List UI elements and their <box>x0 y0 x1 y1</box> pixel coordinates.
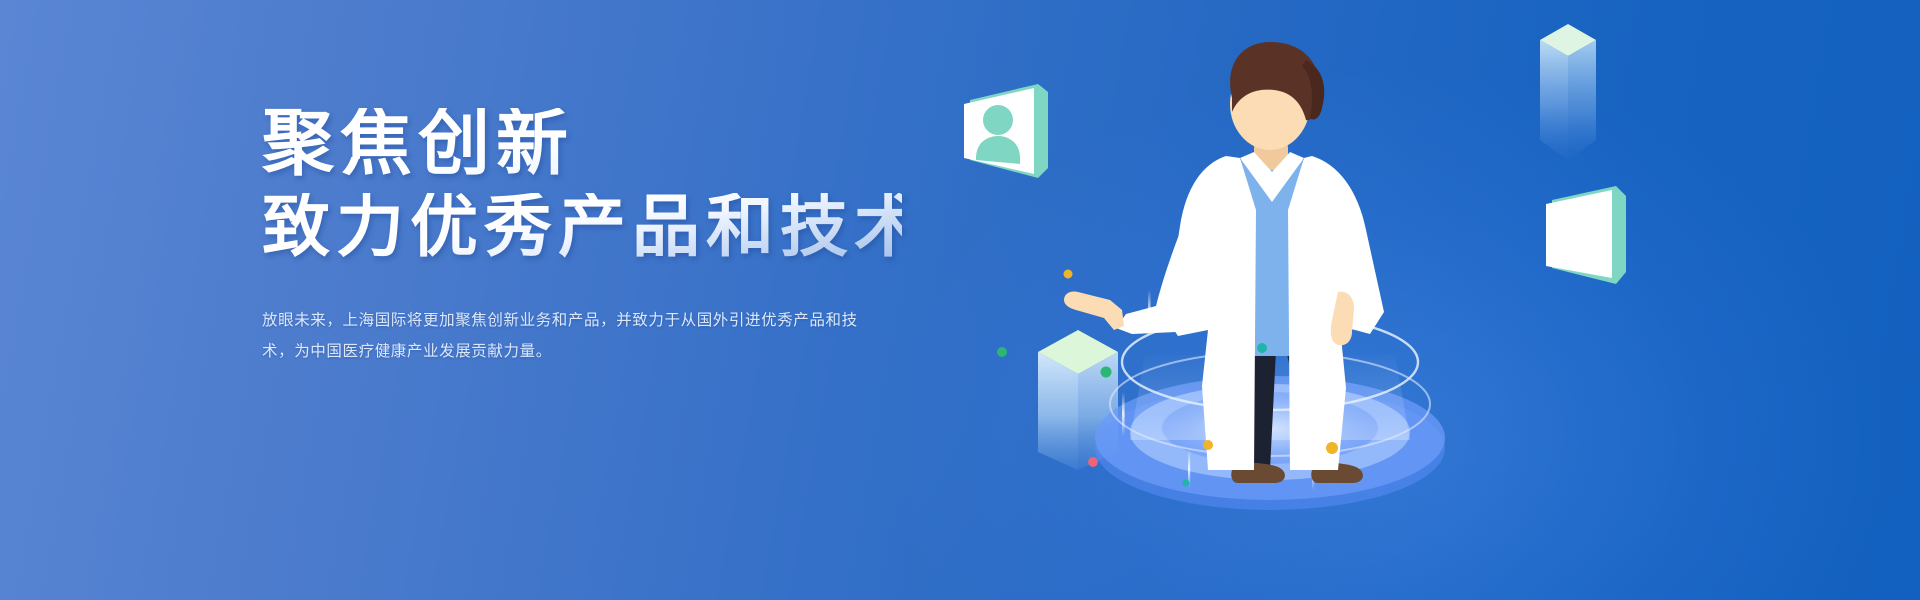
headline-line-1: 聚焦创新 <box>262 108 902 181</box>
hero-banner: 聚焦创新 致力优秀产品和技术 放眼未来，上海国际将更加聚焦创新业务和产品，并致力… <box>0 0 1920 600</box>
banner-subtitle: 放眼未来，上海国际将更加聚焦创新业务和产品，并致力于从国外引进优秀产品和技术，为… <box>262 305 862 367</box>
blank-card <box>1546 186 1626 284</box>
banner-text-block: 聚焦创新 致力优秀产品和技术 放眼未来，上海国际将更加聚焦创新业务和产品，并致力… <box>262 108 902 367</box>
user-profile-card <box>964 84 1048 178</box>
isometric-bar-tall-right <box>1540 24 1596 160</box>
banner-illustration <box>940 0 1740 600</box>
headline-line-2: 致力优秀产品和技术 <box>262 193 902 262</box>
